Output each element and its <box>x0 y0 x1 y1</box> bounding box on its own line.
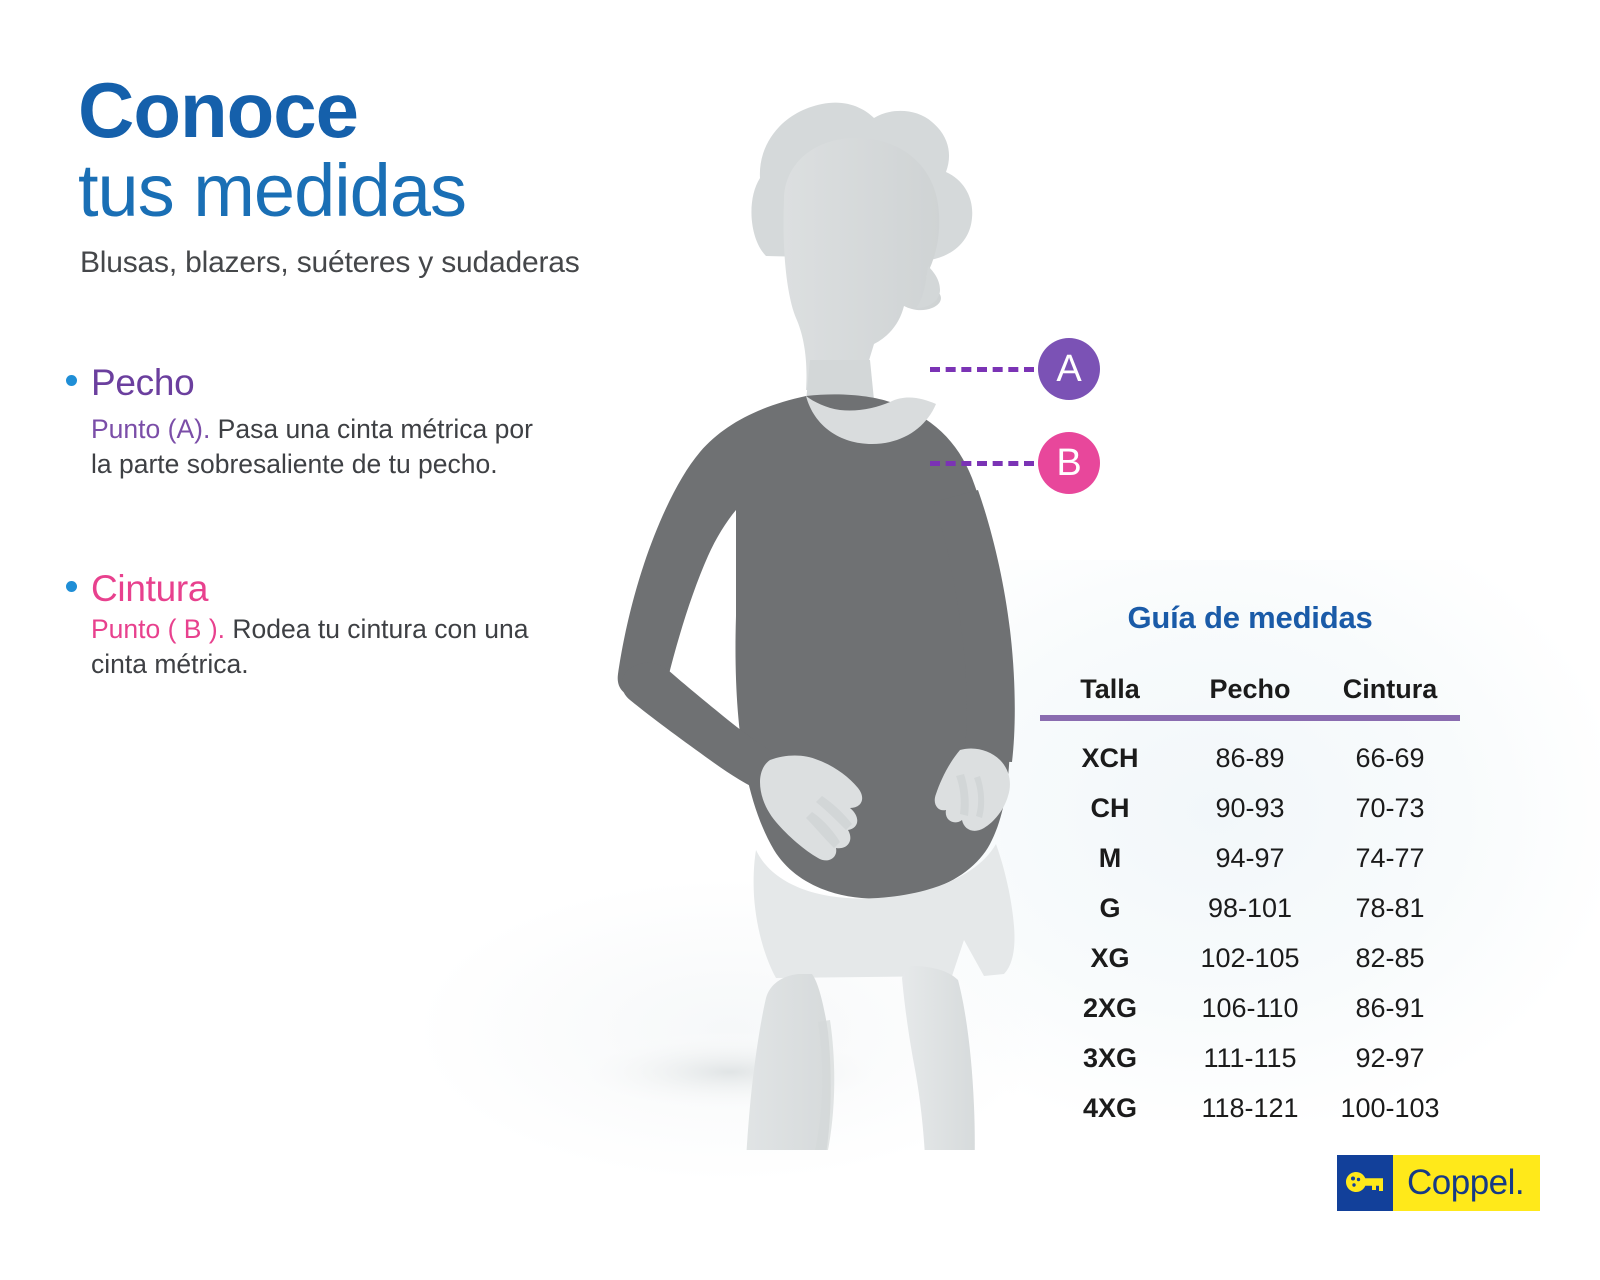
column-header-cintura: Cintura <box>1320 674 1460 718</box>
cell-cintura: 70-73 <box>1320 783 1460 833</box>
head-shape <box>784 138 941 390</box>
section-pecho-punto-label: Punto (A). <box>91 414 210 444</box>
section-cintura: Cintura Punto ( B ). Rodea tu cintura co… <box>66 568 536 682</box>
coppel-logo: Coppel. <box>1337 1155 1540 1211</box>
cell-cintura: 100-103 <box>1320 1083 1460 1133</box>
figure-shadow <box>560 1030 900 1114</box>
callout-a: A <box>930 338 1100 400</box>
callout-b: B <box>930 432 1100 494</box>
cell-talla: 3XG <box>1040 1033 1180 1083</box>
coppel-wordmark: Coppel. <box>1393 1155 1540 1211</box>
cell-cintura: 82-85 <box>1320 933 1460 983</box>
size-guide-table: Talla Pecho Cintura XCH 86-89 66-69 CH 9… <box>1040 674 1460 1133</box>
cell-talla: XCH <box>1040 718 1180 783</box>
section-cintura-title: Cintura <box>91 568 208 610</box>
cell-pecho: 86-89 <box>1180 718 1320 783</box>
cell-pecho: 118-121 <box>1180 1083 1320 1133</box>
cell-pecho: 106-110 <box>1180 983 1320 1033</box>
female-mannequin-illustration <box>560 60 1060 1150</box>
bullet-dot-icon <box>66 375 77 386</box>
column-header-pecho: Pecho <box>1180 674 1320 718</box>
table-row: G 98-101 78-81 <box>1040 883 1460 933</box>
cell-cintura: 78-81 <box>1320 883 1460 933</box>
cell-pecho: 98-101 <box>1180 883 1320 933</box>
size-guide-infographic: Conoce tus medidas Blusas, blazers, suét… <box>0 0 1600 1280</box>
section-cintura-heading: Cintura <box>66 568 536 610</box>
column-header-talla: Talla <box>1040 674 1180 718</box>
table-row: XCH 86-89 66-69 <box>1040 718 1460 783</box>
table-row: 4XG 118-121 100-103 <box>1040 1083 1460 1133</box>
callout-a-badge: A <box>1038 338 1100 400</box>
table-row: 2XG 106-110 86-91 <box>1040 983 1460 1033</box>
cell-pecho: 90-93 <box>1180 783 1320 833</box>
cell-cintura: 92-97 <box>1320 1033 1460 1083</box>
cell-talla: 2XG <box>1040 983 1180 1033</box>
table-row: CH 90-93 70-73 <box>1040 783 1460 833</box>
size-guide-panel: Guía de medidas Talla Pecho Cintura XCH … <box>1040 600 1460 1133</box>
section-cintura-body: Punto ( B ). Rodea tu cintura con una ci… <box>91 612 536 682</box>
cell-pecho: 94-97 <box>1180 833 1320 883</box>
section-pecho-title: Pecho <box>91 362 194 404</box>
section-pecho: Pecho Punto (A). Pasa una cinta métrica … <box>66 362 536 482</box>
callout-a-dashed-line <box>930 367 1034 372</box>
coppel-brand-text: Coppel. <box>1407 1163 1524 1203</box>
section-pecho-heading: Pecho <box>66 362 536 404</box>
size-guide-table-body: XCH 86-89 66-69 CH 90-93 70-73 M 94-97 7… <box>1040 718 1460 1133</box>
table-header-row: Talla Pecho Cintura <box>1040 674 1460 718</box>
cell-talla: XG <box>1040 933 1180 983</box>
section-cintura-punto-label: Punto ( B ). <box>91 614 225 644</box>
cell-pecho: 102-105 <box>1180 933 1320 983</box>
cell-talla: G <box>1040 883 1180 933</box>
callout-b-dashed-line <box>930 461 1034 466</box>
size-guide-title: Guía de medidas <box>1040 600 1460 636</box>
right-leg <box>902 966 978 1150</box>
section-pecho-body: Punto (A). Pasa una cinta métrica por la… <box>91 412 536 482</box>
cell-cintura: 74-77 <box>1320 833 1460 883</box>
bullet-dot-icon <box>66 581 77 592</box>
cell-cintura: 66-69 <box>1320 718 1460 783</box>
cell-talla: 4XG <box>1040 1083 1180 1133</box>
cell-cintura: 86-91 <box>1320 983 1460 1033</box>
table-row: XG 102-105 82-85 <box>1040 933 1460 983</box>
cell-talla: CH <box>1040 783 1180 833</box>
size-guide-table-head: Talla Pecho Cintura <box>1040 674 1460 718</box>
key-icon <box>1337 1155 1393 1211</box>
callout-b-badge: B <box>1038 432 1100 494</box>
cell-talla: M <box>1040 833 1180 883</box>
table-row: M 94-97 74-77 <box>1040 833 1460 883</box>
table-row: 3XG 111-115 92-97 <box>1040 1033 1460 1083</box>
cell-pecho: 111-115 <box>1180 1033 1320 1083</box>
